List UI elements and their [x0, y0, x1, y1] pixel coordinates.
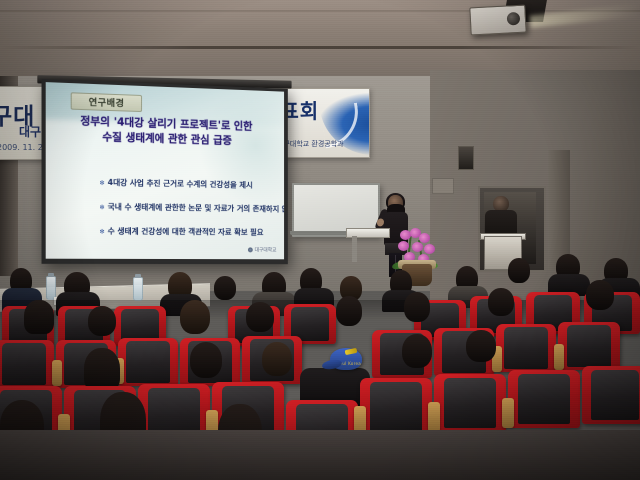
auditorium-seat [558, 322, 620, 370]
slide-logo-text: 대구대학교 [255, 246, 277, 253]
audience-head [190, 342, 222, 378]
audience-head [262, 342, 292, 376]
audience-head [404, 292, 430, 322]
slide-logo-mark-icon [248, 247, 253, 252]
banner-left-subtitle: 대구 [19, 123, 41, 140]
auditorium-seat [360, 378, 432, 436]
slide-footer-logo: 대구대학교 [248, 246, 277, 253]
wall-column [548, 150, 570, 270]
seat-armrest [52, 360, 62, 386]
slide-bullet: 수 생태계 건강성에 대한 객관적인 자료 확보 필요 [99, 226, 284, 238]
seat-armrest [502, 398, 514, 428]
orchid-bloom [424, 244, 435, 254]
auditorium-seat [434, 374, 506, 432]
wall-speaker-icon [458, 146, 474, 170]
slide-section-tag-label: 연구배경 [89, 95, 125, 109]
audience-head [508, 258, 530, 283]
auditorium-seat [0, 340, 54, 388]
audience-head [24, 300, 54, 334]
auditorium-seat [496, 324, 556, 372]
side-table-leg [352, 236, 357, 262]
projection-screen-surface: 연구배경 정부의 '4대강 살리기 프로젝트'로 인한 수질 생태계에 관한 관… [46, 82, 284, 259]
bottle-cap [135, 274, 141, 278]
bottle-cap [48, 273, 54, 277]
orchid-bloom [412, 242, 423, 252]
lecture-hall-photo: 구대 대구 2009. 11. 20(금) 발표회 표회 대구대학교 환경공학과… [0, 0, 640, 480]
slide-section-tag: 연구배경 [71, 92, 142, 112]
cap-logo-icon [345, 348, 358, 355]
audience-head [488, 288, 514, 316]
water-bottle-clear [133, 277, 143, 301]
audience-head [336, 296, 362, 326]
audience-head [180, 300, 210, 334]
floor [0, 430, 640, 480]
projector-lens [507, 12, 521, 26]
slide-bullet: 국내 수 생태계에 관한한 논문 및 자료가 거의 존재하지 않음 [99, 202, 284, 215]
seat-armrest [554, 344, 564, 370]
auditorium-seat [582, 366, 640, 424]
audience-head [466, 330, 496, 362]
wall-panel [432, 178, 454, 194]
audience-head [402, 334, 432, 368]
auditorium-seat [508, 370, 580, 428]
projection-screen: 연구배경 정부의 '4대강 살리기 프로젝트'로 인한 수질 생태계에 관한 관… [42, 79, 288, 264]
auditorium-seat [118, 338, 178, 386]
seat-armrest [428, 402, 440, 432]
audience-head [88, 306, 116, 336]
slide-bullet-list: 4대강 사업 추진 근거로 수계의 건강성을 제시 국내 수 생태계에 관한한 … [58, 177, 284, 252]
orchid-bloom [398, 241, 409, 251]
audience-head [586, 280, 614, 310]
audience-head [214, 276, 236, 300]
orchid-bloom [419, 233, 430, 243]
ceiling-projector-icon [469, 5, 526, 36]
audience-head [246, 302, 274, 332]
